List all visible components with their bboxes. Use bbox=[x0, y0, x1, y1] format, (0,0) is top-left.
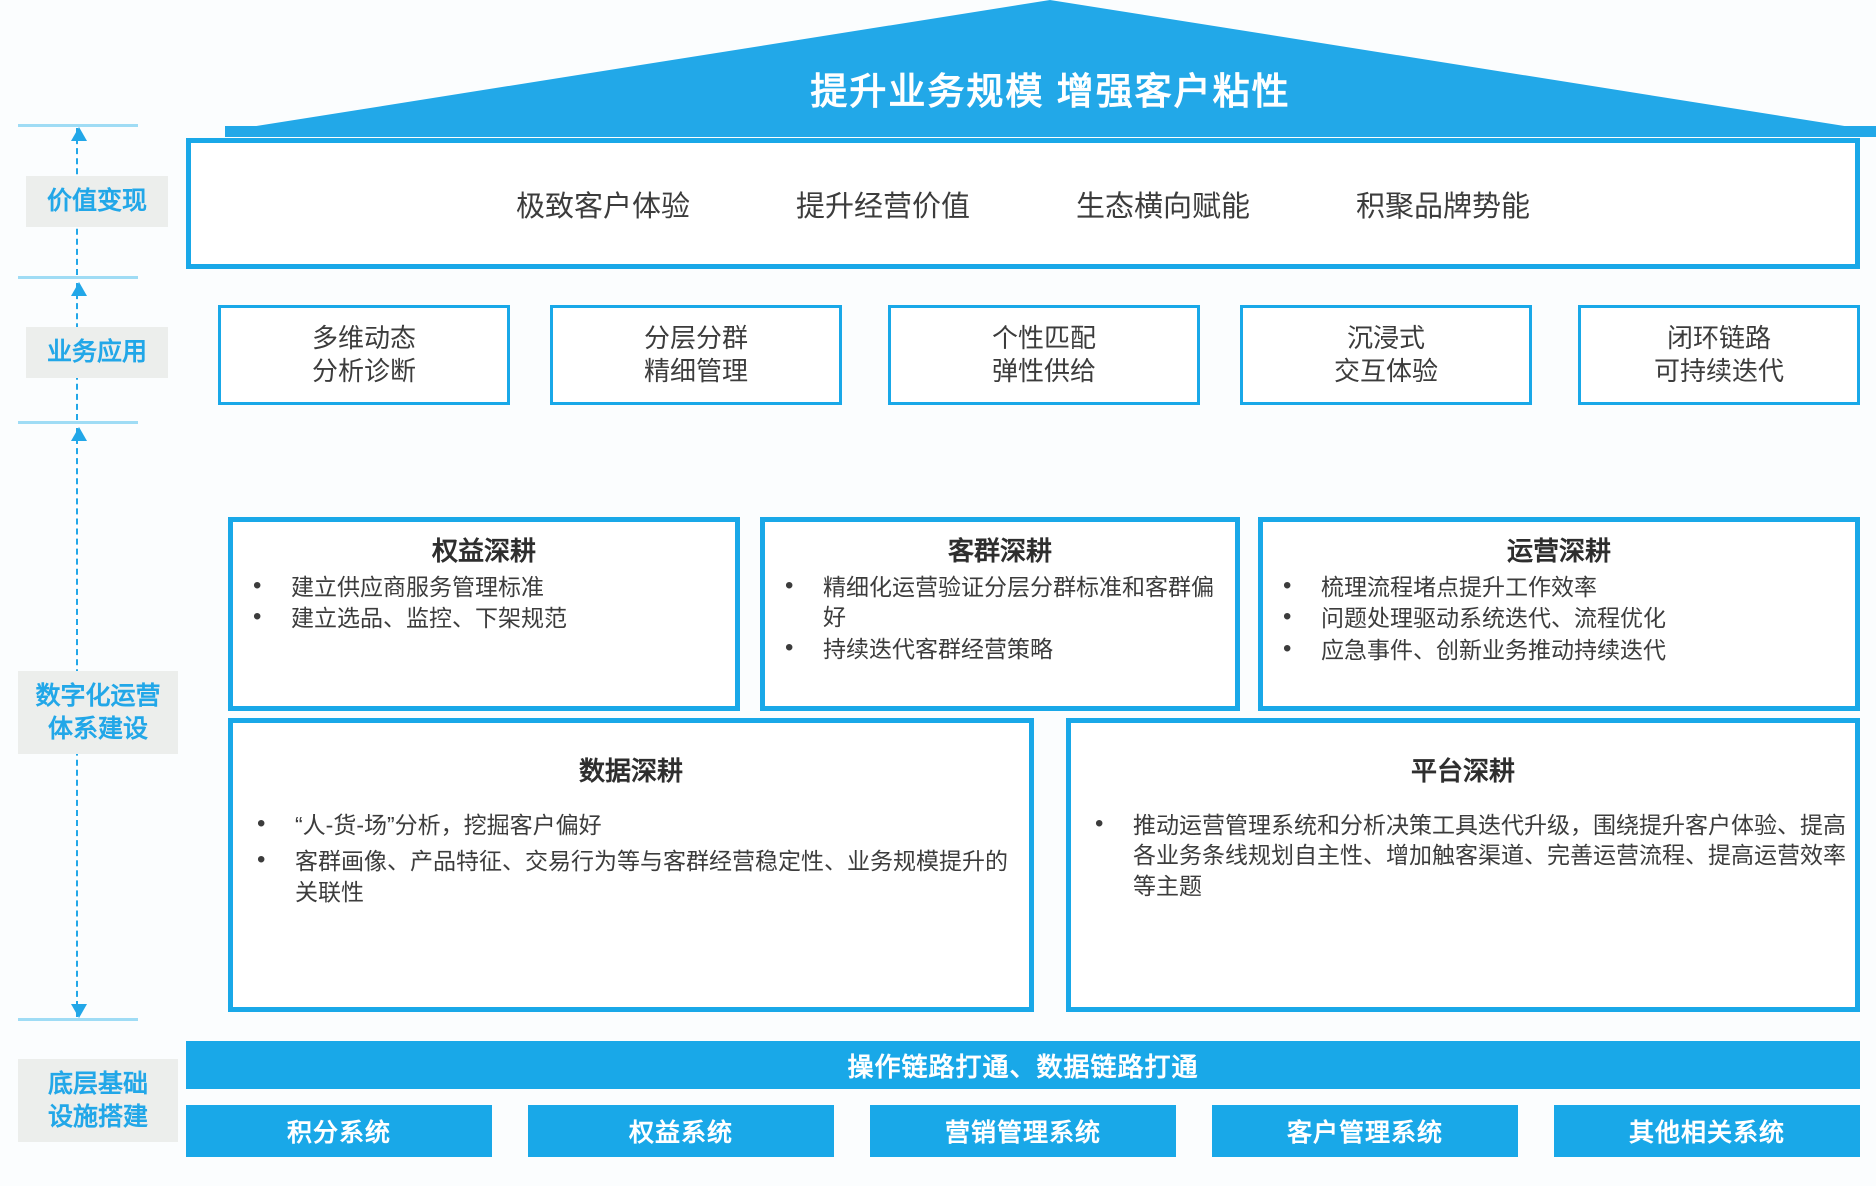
rail-label-infra: 底层基础 设施搭建 bbox=[18, 1059, 178, 1142]
arrow-head-up-icon bbox=[71, 427, 87, 441]
bullet-item: 持续迭代客群经营策略 bbox=[779, 634, 1227, 664]
rail-label-business: 业务应用 bbox=[26, 327, 168, 378]
value-layer-items: 极致客户体验 提升经营价值 生态横向赋能 积聚品牌势能 bbox=[186, 138, 1860, 269]
system-box-marketing[interactable]: 营销管理系统 bbox=[870, 1105, 1176, 1157]
value-item-3: 积聚品牌势能 bbox=[1356, 183, 1530, 225]
ops-card-bullets-1: 精细化运营验证分层分群标准和客群偏好 持续迭代客群经营策略 bbox=[765, 572, 1235, 664]
ops-card-title-3: 数据深耕 bbox=[233, 723, 1029, 810]
ops-card-platform[interactable]: 平台深耕 推动运营管理系统和分析决策工具迭代升级，围绕提升客户体验、提高各业务条… bbox=[1066, 718, 1860, 1012]
business-app-line2-1: 精细管理 bbox=[644, 355, 748, 388]
bullet-item: 精细化运营验证分层分群标准和客群偏好 bbox=[779, 572, 1227, 633]
business-app-card-4[interactable]: 闭环链路 可持续迭代 bbox=[1578, 305, 1860, 405]
system-box-other[interactable]: 其他相关系统 bbox=[1554, 1105, 1860, 1157]
ops-card-title-4: 平台深耕 bbox=[1071, 723, 1855, 810]
bullet-item: 客群画像、产品特征、交易行为等与客群经营稳定性、业务规模提升的关联性 bbox=[251, 846, 1021, 907]
bullet-item: 问题处理驱动系统迭代、流程优化 bbox=[1277, 603, 1847, 633]
infra-systems-row: 积分系统 权益系统 营销管理系统 客户管理系统 其他相关系统 bbox=[186, 1105, 1860, 1157]
arrow-head-down-icon bbox=[71, 1004, 87, 1018]
business-app-card-0[interactable]: 多维动态 分析诊断 bbox=[218, 305, 510, 405]
business-app-line2-4: 可持续迭代 bbox=[1654, 355, 1784, 388]
business-app-line2-0: 分析诊断 bbox=[312, 355, 416, 388]
business-app-card-2[interactable]: 个性匹配 弹性供给 bbox=[888, 305, 1200, 405]
business-app-line1-2: 个性匹配 bbox=[992, 322, 1096, 355]
rail-level-infra: 底层基础 设施搭建 bbox=[18, 1021, 138, 1181]
bullet-item: 建立供应商服务管理标准 bbox=[247, 572, 727, 602]
ops-card-bullets-2: 梳理流程堵点提升工作效率 问题处理驱动系统迭代、流程优化 应急事件、创新业务推动… bbox=[1263, 572, 1855, 665]
business-app-card-1[interactable]: 分层分群 精细管理 bbox=[550, 305, 842, 405]
value-item-1: 提升经营价值 bbox=[796, 183, 970, 225]
bullet-item: “人-货-场”分析，挖掘客户偏好 bbox=[251, 810, 1021, 840]
business-app-line1-0: 多维动态 bbox=[312, 322, 416, 355]
rail-level-business: 业务应用 bbox=[18, 279, 138, 424]
business-app-line1-4: 闭环链路 bbox=[1667, 322, 1771, 355]
system-box-rights[interactable]: 权益系统 bbox=[528, 1105, 834, 1157]
ops-card-customer-group[interactable]: 客群深耕 精细化运营验证分层分群标准和客群偏好 持续迭代客群经营策略 bbox=[760, 517, 1240, 711]
business-app-line2-2: 弹性供给 bbox=[992, 355, 1096, 388]
ops-card-data[interactable]: 数据深耕 “人-货-场”分析，挖掘客户偏好 客群画像、产品特征、交易行为等与客群… bbox=[228, 718, 1034, 1012]
business-app-line1-3: 沉浸式 bbox=[1347, 322, 1425, 355]
ops-card-bullets-3: “人-货-场”分析，挖掘客户偏好 客群画像、产品特征、交易行为等与客群经营稳定性… bbox=[233, 810, 1029, 907]
roof-banner: 提升业务规模 增强客户粘性 bbox=[225, 0, 1876, 137]
ops-card-rights[interactable]: 权益深耕 建立供应商服务管理标准 建立选品、监控、下架规范 bbox=[228, 517, 740, 711]
ops-card-title-2: 运营深耕 bbox=[1263, 522, 1855, 572]
value-item-0: 极致客户体验 bbox=[516, 183, 690, 225]
bullet-item: 梳理流程堵点提升工作效率 bbox=[1277, 572, 1847, 602]
rail-label-line2: 设施搭建 bbox=[48, 1103, 148, 1131]
arrow-head-up-icon bbox=[71, 127, 87, 141]
rail-label-line2: 体系建设 bbox=[48, 715, 148, 743]
value-item-2: 生态横向赋能 bbox=[1076, 183, 1250, 225]
system-box-points[interactable]: 积分系统 bbox=[186, 1105, 492, 1157]
rail-label-line1: 底层基础 bbox=[48, 1070, 148, 1098]
ops-card-operations[interactable]: 运营深耕 梳理流程堵点提升工作效率 问题处理驱动系统迭代、流程优化 应急事件、创… bbox=[1258, 517, 1860, 711]
ops-card-title-1: 客群深耕 bbox=[765, 522, 1235, 572]
business-app-line1-1: 分层分群 bbox=[644, 322, 748, 355]
system-box-crm[interactable]: 客户管理系统 bbox=[1212, 1105, 1518, 1157]
rail-label-value: 价值变现 bbox=[26, 176, 168, 227]
rail-level-digital-ops: 数字化运营 体系建设 bbox=[18, 424, 138, 1021]
roof-title: 提升业务规模 增强客户粘性 bbox=[225, 0, 1876, 137]
rail-level-value: 价值变现 bbox=[18, 124, 138, 279]
bullet-item: 推动运营管理系统和分析决策工具迭代升级，围绕提升客户体验、提高各业务条线规划自主… bbox=[1089, 810, 1847, 901]
rail-label-line1: 数字化运营 bbox=[35, 682, 160, 710]
infra-link-band: 操作链路打通、数据链路打通 bbox=[186, 1041, 1860, 1089]
rail-label-digital-ops: 数字化运营 体系建设 bbox=[18, 671, 178, 754]
ops-card-bullets-0: 建立供应商服务管理标准 建立选品、监控、下架规范 bbox=[233, 572, 735, 634]
arrow-head-up-icon bbox=[71, 282, 87, 296]
ops-card-title-0: 权益深耕 bbox=[233, 522, 735, 572]
bullet-item: 建立选品、监控、下架规范 bbox=[247, 603, 727, 633]
bullet-item: 应急事件、创新业务推动持续迭代 bbox=[1277, 635, 1847, 665]
business-app-card-3[interactable]: 沉浸式 交互体验 bbox=[1240, 305, 1532, 405]
business-app-line2-3: 交互体验 bbox=[1334, 355, 1438, 388]
ops-card-bullets-4: 推动运营管理系统和分析决策工具迭代升级，围绕提升客户体验、提高各业务条线规划自主… bbox=[1071, 810, 1855, 901]
